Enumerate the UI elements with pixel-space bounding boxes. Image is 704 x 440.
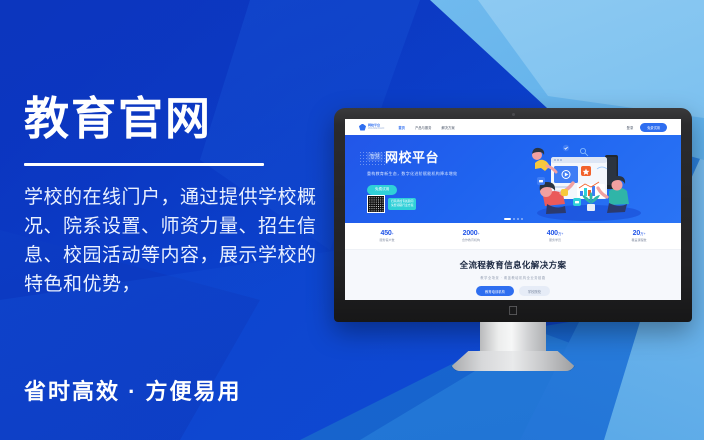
page-title: 教育官网 [24,96,324,141]
stat-label: 覆盖课程数 [597,238,681,242]
brand-logo[interactable]: 网校平台 WANGXIAO [359,124,384,131]
nav-link-products[interactable]: 产品与服务 [415,125,431,130]
tab-training-orgs[interactable]: 教育培训机构 [476,286,514,296]
carousel-dot[interactable] [517,218,519,220]
nav-link-home[interactable]: 首页 [398,125,405,130]
imac-display: 网校平台 WANGXIAO 首页 产品与服务 解决方案 登录 免费试用 [334,108,692,322]
nav-link-solutions[interactable]: 解决方案 [441,125,454,130]
hero-banner: 智慧网校平台 重构教育新生态，数字化进阶赋能机构降本增效 免费试用 扫码添加专属… [345,135,681,223]
stat-number: 450 [381,230,392,237]
stat-label: 服务客户数 [345,238,429,242]
brand-name: 网校平台 WANGXIAO [368,124,384,131]
carousel-dots[interactable] [504,218,523,220]
site-navbar: 网校平台 WANGXIAO 首页 产品与服务 解决方案 登录 免费试用 [345,119,681,135]
stat-value: 450+ [345,230,429,237]
stat-number: 400 [547,230,558,237]
solution-title: 全流程教育信息化解决方案 [345,259,681,271]
brand-sub-text: WANGXIAO [368,127,384,130]
stat-unit: + [477,232,479,236]
nav-right-group: 登录 免费试用 [627,123,667,132]
qr-caption: 扫码添加专属顾问 免费领取行业方案 [388,198,416,210]
stat-unit: 万+ [640,232,645,236]
carousel-dot[interactable] [521,218,523,220]
hero-qr-group: 扫码添加专属顾问 免费领取行业方案 [367,195,416,213]
monitor-stand-base [451,351,575,371]
monitor-stand-neck [480,322,546,355]
stat-item: 2000+ 合作教育机构 [429,230,513,242]
tab-schools[interactable]: 学校院校 [519,286,550,296]
stats-row: 450+ 服务客户数 2000+ 合作教育机构 400万+ 服务学员 20万+ … [345,223,681,250]
hero-subtitle: 重构教育新生态，数字化进阶赋能机构降本增效 [367,171,457,177]
poster-canvas: 教育官网 学校的在线门户，通过提供学校概况、院系设置、师资力量、招生信息、校园活… [0,0,704,440]
brand-mark-icon [359,124,366,131]
apple-logo-icon:  [507,304,519,318]
tagline: 省时高效 · 方便易用 [24,374,242,406]
title-divider [24,163,264,166]
stat-value: 400万+ [513,230,597,237]
stat-value: 2000+ [429,230,513,237]
hero-illustration [513,141,663,223]
stat-value: 20万+ [597,230,681,237]
hero-cta-button[interactable]: 免费试用 [367,185,397,195]
copy-block: 教育官网 学校的在线门户，通过提供学校概况、院系设置、师资力量、招生信息、校园活… [24,96,324,300]
nav-links: 首页 产品与服务 解决方案 [398,125,626,130]
qr-code-icon[interactable] [367,195,385,213]
stat-item: 400万+ 服务学员 [513,230,597,242]
carousel-dot-active[interactable] [504,218,511,220]
solution-section: 全流程教育信息化解决方案 教学全场景 · 覆盖教培机构全业务链路 教育培训机构 … [345,250,681,300]
hero-pretitle: 智慧 [367,152,383,161]
stat-label: 服务学员 [513,238,597,242]
qr-caption-line2: 免费领取行业方案 [391,204,413,208]
free-trial-button[interactable]: 免费试用 [640,123,667,132]
stat-number: 2000 [463,230,478,237]
solution-tabs: 教育培训机构 学校院校 [345,286,681,296]
description-paragraph: 学校的在线门户，通过提供学校概况、院系设置、师资力量、招生信息、校园活动等内容，… [24,184,324,300]
stat-number: 20 [633,230,640,237]
hero-title: 网校平台 [385,147,439,166]
hero-copy: 智慧网校平台 重构教育新生态，数字化进阶赋能机构降本增效 免费试用 [367,147,457,195]
stat-unit: 万+ [558,232,563,236]
stat-item: 20万+ 覆盖课程数 [597,230,681,242]
solution-subtitle: 教学全场景 · 覆盖教培机构全业务链路 [345,275,681,280]
stat-label: 合作教育机构 [429,238,513,242]
login-link[interactable]: 登录 [627,125,634,130]
webcam-icon [512,113,515,116]
monitor-screen: 网校平台 WANGXIAO 首页 产品与服务 解决方案 登录 免费试用 [345,119,681,300]
carousel-dot[interactable] [513,218,515,220]
monitor-bezel: 网校平台 WANGXIAO 首页 产品与服务 解决方案 登录 免费试用 [334,108,692,322]
stat-item: 450+ 服务客户数 [345,230,429,242]
stat-unit: + [392,232,394,236]
